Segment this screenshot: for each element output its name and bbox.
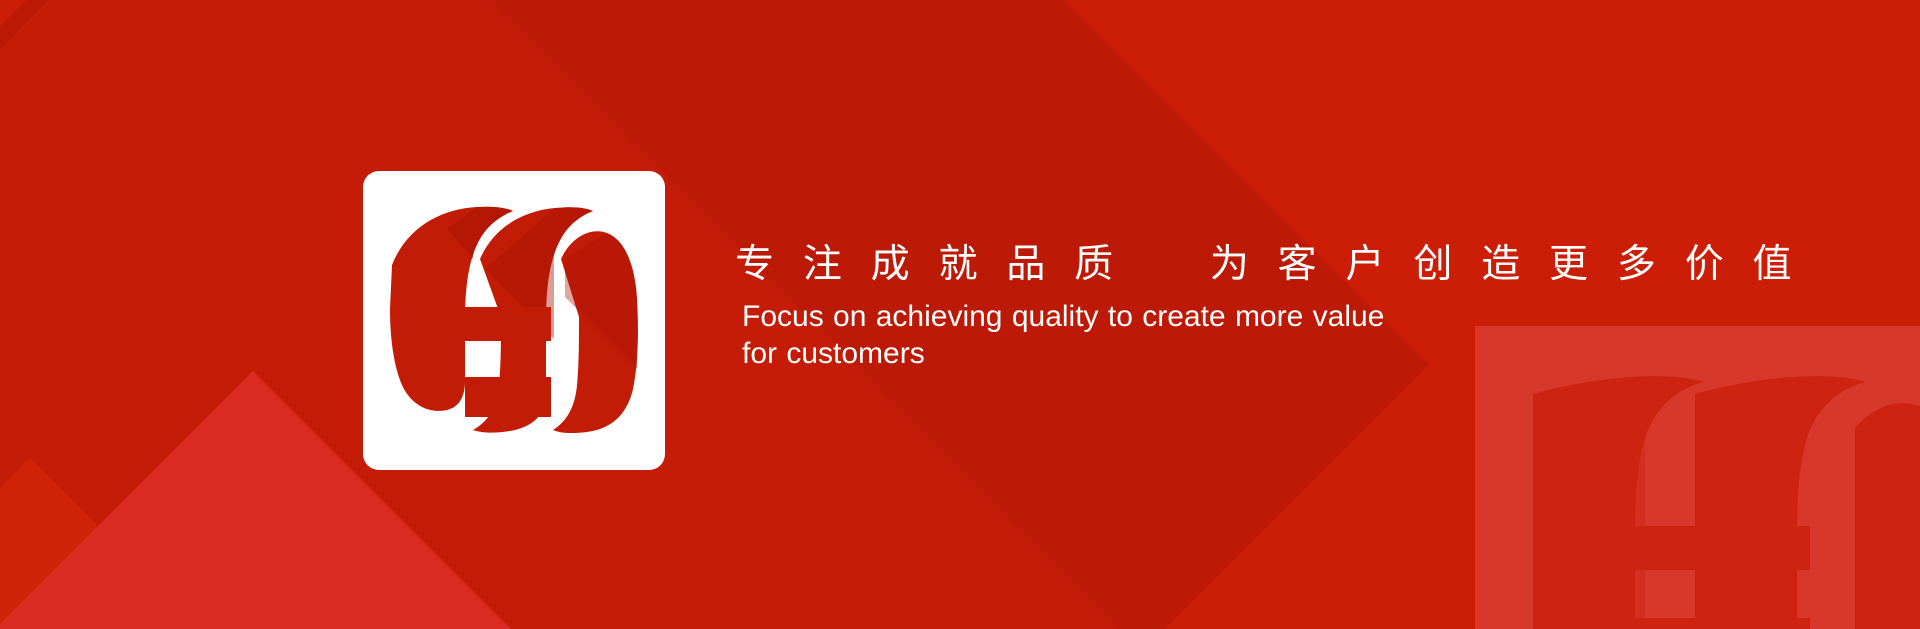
company-h-logo-icon xyxy=(385,199,643,443)
banner-subheadline-english: Focus on achieving quality to create mor… xyxy=(742,298,1392,372)
ghost-h-watermark-icon xyxy=(1525,368,1920,629)
banner-headline-chinese: 专 注 成 就 品 质 为 客 户 创 造 更 多 价 值 xyxy=(735,242,1555,288)
banner-text-block: 专 注 成 就 品 质 为 客 户 创 造 更 多 价 值 Focus on a… xyxy=(735,242,1555,372)
company-logo-tile[interactable] xyxy=(363,171,665,470)
dim-chevron-shape xyxy=(0,458,242,629)
hero-banner: 专 注 成 就 品 质 为 客 户 创 造 更 多 价 值 Focus on a… xyxy=(0,0,1920,629)
